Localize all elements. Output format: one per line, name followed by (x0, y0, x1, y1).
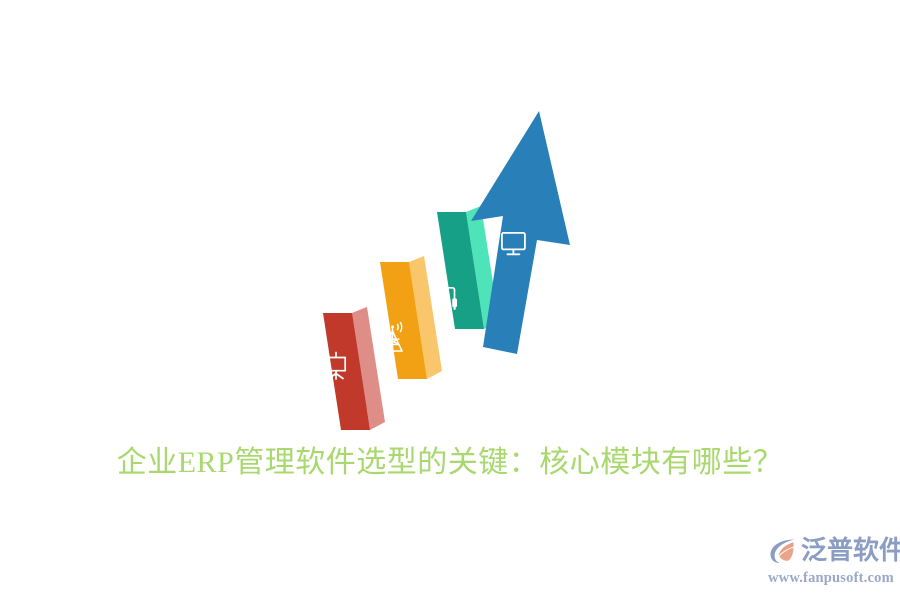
fanpu-c-logo-icon (768, 536, 798, 566)
watermark-url: www.fanpusoft.com (768, 569, 892, 587)
step-block-red (323, 307, 385, 430)
watermark-logo: 泛普软件 www.fanpusoft.com (768, 534, 892, 592)
ascending-steps-arrow-illustration (295, 100, 595, 440)
watermark-brand-name: 泛普软件 (801, 536, 900, 566)
usb-cable-icon (438, 287, 458, 310)
step-block-orange (380, 256, 442, 379)
page-title: 企业ERP管理软件选型的关键：核心模块有哪些？ (0, 441, 900, 485)
page-canvas: 企业ERP管理软件选型的关键：核心模块有哪些？ 泛普软件 www.fanpuso… (0, 0, 900, 600)
